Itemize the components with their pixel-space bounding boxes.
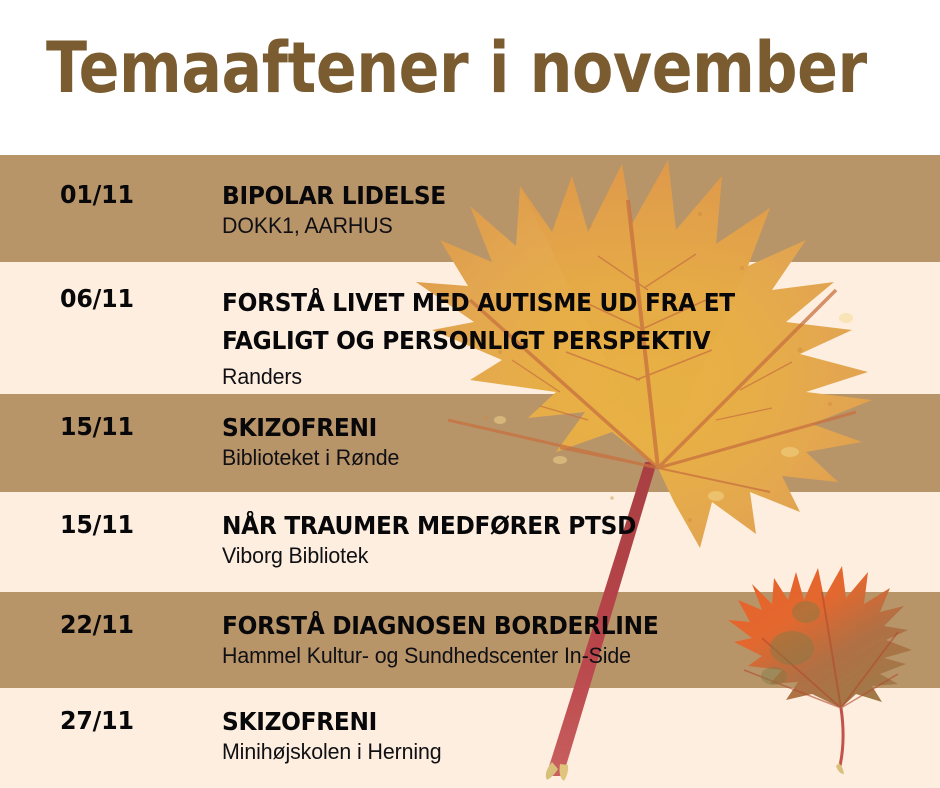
title-area: Temaaftener i november [0,0,940,155]
event-row-1: 01/11 BIPOLAR LIDELSE DOKK1, AARHUS [0,155,940,262]
event-date: 06/11 [60,284,203,314]
event-venue: Biblioteket i Rønde [222,444,909,472]
event-row-6: 27/11 SKIZOFRENI Minihøjskolen i Herning [0,688,940,788]
event-date: 22/11 [60,610,203,640]
event-row-3: 15/11 SKIZOFRENI Biblioteket i Rønde [0,394,940,492]
event-title: SKIZOFRENI [222,706,880,737]
event-venue: Viborg Bibliotek [222,542,909,570]
event-date: 15/11 [60,510,203,540]
event-date: 15/11 [60,412,203,442]
event-title: NÅR TRAUMER MEDFØRER PTSD [222,510,880,541]
event-title: FORSTÅ LIVET MED AUTISME UD FRA ET FAGLI… [222,284,880,360]
event-title: SKIZOFRENI [222,412,880,443]
event-venue: Minihøjskolen i Herning [222,738,909,766]
page-title: Temaaftener i november [46,26,786,110]
event-title: BIPOLAR LIDELSE [222,180,880,211]
event-venue: Hammel Kultur- og Sundhedscenter In-Side [222,642,909,670]
event-date: 27/11 [60,706,203,736]
event-row-4: 15/11 NÅR TRAUMER MEDFØRER PTSD Viborg B… [0,492,940,592]
event-venue: DOKK1, AARHUS [222,212,909,240]
event-date: 01/11 [60,180,203,210]
event-row-5: 22/11 FORSTÅ DIAGNOSEN BORDERLINE Hammel… [0,592,940,688]
event-row-2: 06/11 FORSTÅ LIVET MED AUTISME UD FRA ET… [0,262,940,394]
event-title: FORSTÅ DIAGNOSEN BORDERLINE [222,610,880,641]
event-venue: Randers [222,363,909,391]
poster-canvas: Temaaftener i november 01/11 BIPOLAR LID… [0,0,940,788]
